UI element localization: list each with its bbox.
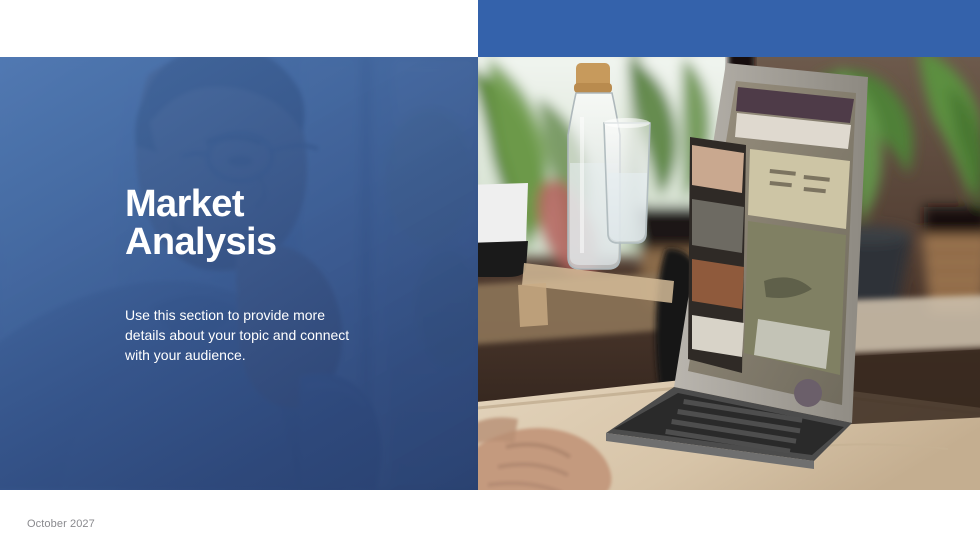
top-accent-bar [478,0,980,57]
left-photo-panel: Market Analysis Use this section to prov… [0,57,478,490]
laptop-workspace-plants-photo [478,57,980,490]
footer-date: October 2027 [27,518,95,530]
left-text-block: Market Analysis Use this section to prov… [125,185,425,365]
slide-body-text: Use this section to provide more details… [125,261,350,365]
page-title: Market Analysis [125,185,425,261]
footer-strip [0,490,980,551]
slide-canvas: Market Analysis Use this section to prov… [0,0,980,551]
